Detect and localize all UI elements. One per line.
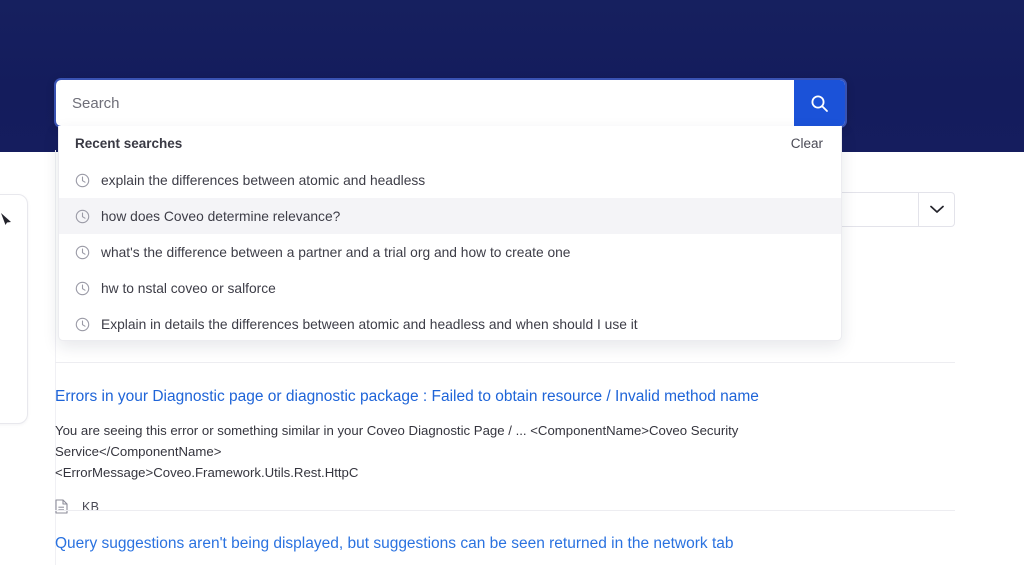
search-result-item: Errors in your Diagnostic page or diagno… — [55, 386, 960, 514]
chevron-down-icon — [930, 201, 944, 219]
list-item-label: hw to nstal coveo or salforce — [101, 281, 276, 296]
result-excerpt: You are seeing this error or something s… — [55, 420, 905, 483]
clear-recent-searches-button[interactable]: Clear — [791, 136, 823, 151]
clock-icon — [75, 281, 90, 296]
result-type-label: KB — [82, 500, 99, 514]
clock-icon — [75, 317, 90, 332]
search-page: ce x) is carried over Recent searches Cl… — [0, 0, 1024, 565]
list-item-label: what's the difference between a partner … — [101, 245, 570, 260]
result-meta: KB — [55, 499, 960, 514]
result-excerpt-line-2: <ErrorMessage>Coveo.Framework.Utils.Rest… — [55, 465, 358, 480]
search-input[interactable] — [56, 80, 794, 126]
recent-searches-header: Recent searches Clear — [59, 126, 841, 160]
result-title-link[interactable]: Errors in your Diagnostic page or diagno… — [55, 386, 960, 408]
clock-icon — [75, 173, 90, 188]
recent-searches-list: explain the differences between atomic a… — [59, 160, 841, 341]
clock-icon — [75, 245, 90, 260]
list-item[interactable]: what's the difference between a partner … — [59, 234, 841, 270]
search-button[interactable] — [794, 80, 845, 126]
filter-chevron-button[interactable] — [919, 192, 955, 227]
result-title-link[interactable]: Query suggestions aren't being displayed… — [55, 533, 960, 555]
list-item[interactable]: how does Coveo determine relevance? — [59, 198, 841, 234]
cursor-pointer-icon — [0, 212, 14, 226]
recent-searches-title: Recent searches — [75, 136, 182, 151]
result-divider — [55, 362, 955, 363]
list-item[interactable]: Explain in details the differences betwe… — [59, 306, 841, 341]
document-icon — [55, 499, 68, 514]
list-item[interactable]: hw to nstal coveo or salforce — [59, 270, 841, 306]
list-item[interactable]: explain the differences between atomic a… — [59, 162, 841, 198]
list-item-label: how does Coveo determine relevance? — [101, 209, 340, 224]
result-excerpt-line-1: You are seeing this error or something s… — [55, 423, 738, 459]
search-icon — [810, 94, 829, 113]
list-item-label: explain the differences between atomic a… — [101, 173, 425, 188]
search-bar — [56, 80, 845, 126]
search-result-item: Query suggestions aren't being displayed… — [55, 533, 960, 555]
left-side-panel-fragment — [0, 194, 28, 424]
result-divider — [55, 510, 955, 511]
recent-searches-dropdown: Recent searches Clear explain the differ… — [58, 126, 842, 341]
list-item-label: Explain in details the differences betwe… — [101, 317, 638, 332]
clock-icon — [75, 209, 90, 224]
